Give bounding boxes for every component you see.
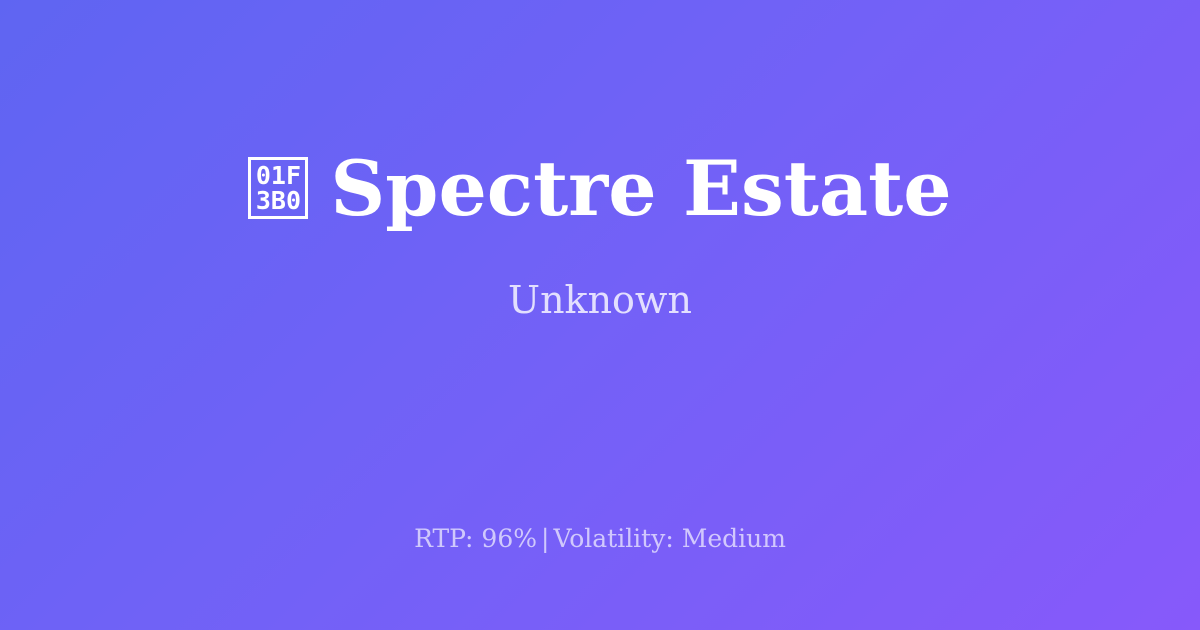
meta-separator: | <box>537 524 553 553</box>
volatility-value: Volatility: Medium <box>553 524 785 553</box>
tofu-codepoint-bottom: 3B0 <box>256 188 301 213</box>
og-card: 01F 3B0 Spectre Estate Unknown RTP: 96%|… <box>0 0 1200 630</box>
tofu-codepoint-top: 01F <box>256 163 301 188</box>
card-center-block: 01F 3B0 Spectre Estate Unknown <box>0 0 1200 470</box>
title-row: 01F 3B0 Spectre Estate <box>60 149 1140 228</box>
page-title: Spectre Estate <box>330 149 951 228</box>
slot-machine-icon: 01F 3B0 <box>248 157 308 219</box>
footer-meta: RTP: 96%|Volatility: Medium <box>0 524 1200 554</box>
rtp-value: RTP: 96% <box>414 524 537 553</box>
page-subtitle: Unknown <box>508 280 692 322</box>
